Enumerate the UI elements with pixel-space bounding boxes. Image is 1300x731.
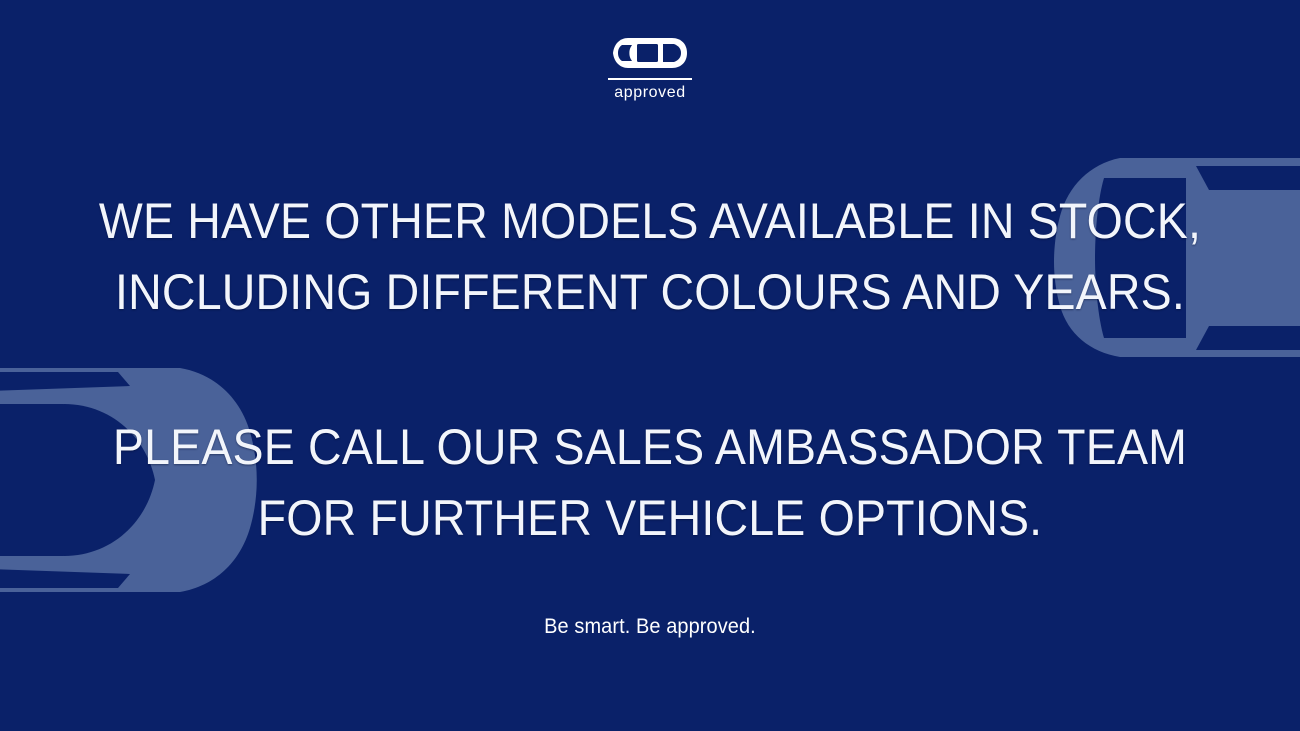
message-block: WE HAVE OTHER MODELS AVAILABLE IN STOCK,… xyxy=(0,186,1300,639)
headline-paragraph-1: WE HAVE OTHER MODELS AVAILABLE IN STOCK,… xyxy=(83,186,1218,328)
car-top-view-icon xyxy=(610,36,690,70)
promo-slide: approved WE HAVE OTHER MODELS AVAILABLE … xyxy=(0,0,1300,731)
headline-paragraph-2: PLEASE CALL OUR SALES AMBASSADOR TEAM FO… xyxy=(83,412,1218,554)
brand-divider xyxy=(608,78,692,80)
brand-lockup: approved xyxy=(576,36,724,101)
tagline: Be smart. Be approved. xyxy=(71,614,1230,639)
brand-wordmark: approved xyxy=(576,85,724,101)
